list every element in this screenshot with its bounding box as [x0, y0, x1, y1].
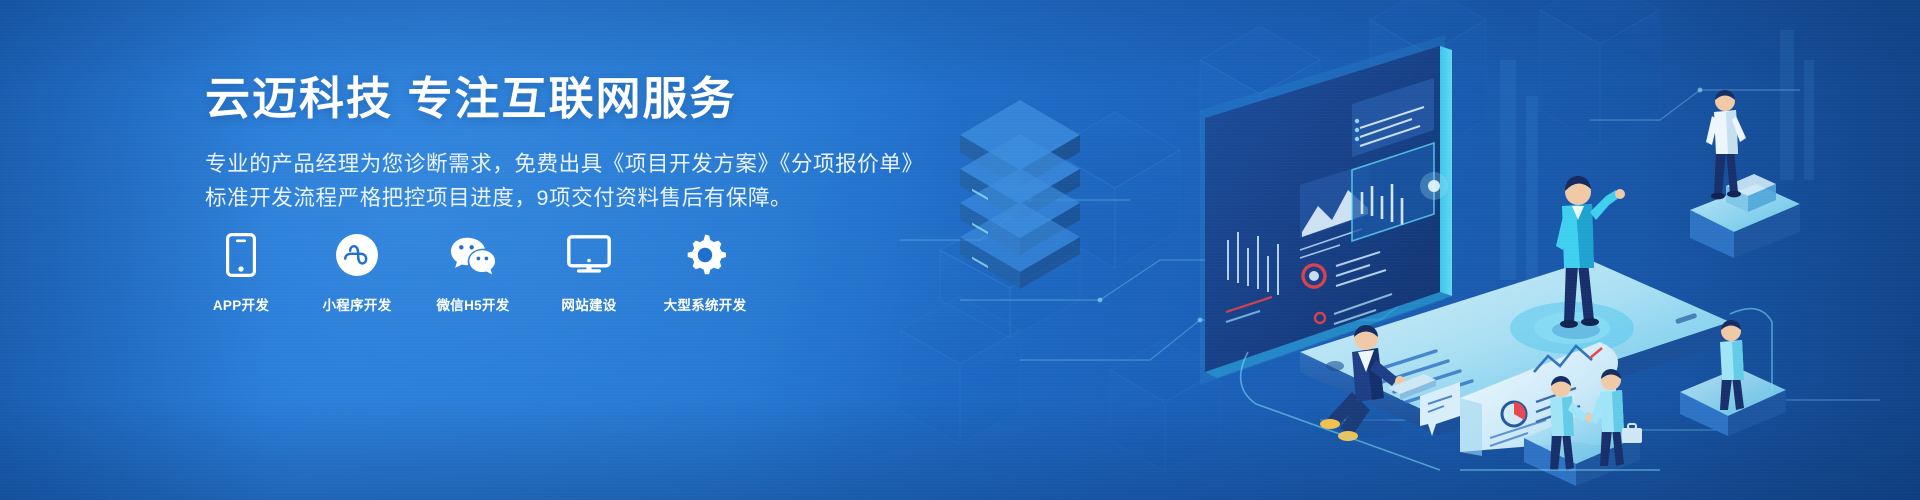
banner-subtitle: 专业的产品经理为您诊断需求，免费出具《项目开发方案》《分项报价单》 标准开发流程… [205, 147, 925, 215]
service-item-wechat-h5[interactable]: 微信H5开发 [437, 232, 509, 314]
service-item-website[interactable]: 网站建设 [553, 232, 625, 314]
mini-program-icon [334, 232, 380, 278]
subtitle-line-2: 标准开发流程严格把控项目进度，9项交付资料售后有保障。 [205, 181, 925, 215]
service-item-app[interactable]: APP开发 [205, 232, 277, 314]
service-label-mini-program: 小程序开发 [323, 294, 392, 314]
wechat-icon [450, 232, 496, 278]
service-item-mini-program[interactable]: 小程序开发 [321, 232, 393, 314]
service-label-website: 网站建设 [561, 294, 616, 314]
promo-banner: 云迈科技 专注互联网服务 专业的产品经理为您诊断需求，免费出具《项目开发方案》《… [0, 0, 1920, 500]
monitor-icon [566, 232, 612, 278]
service-label-app: APP开发 [213, 294, 269, 314]
server-stack [960, 100, 1080, 289]
mobile-phone-icon [218, 232, 264, 278]
subtitle-line-1: 专业的产品经理为您诊断需求，免费出具《项目开发方案》《分项报价单》 [205, 147, 925, 181]
isometric-data-dashboard-illustration [900, 0, 1920, 500]
page-title: 云迈科技 专注互联网服务 [205, 72, 925, 125]
service-item-large-system[interactable]: 大型系统开发 [669, 232, 741, 314]
service-label-large-system: 大型系统开发 [664, 294, 747, 314]
gear-icon [682, 232, 728, 278]
service-label-wechat-h5: 微信H5开发 [436, 294, 509, 314]
service-list: APP开发 小程序开发 微信 [205, 232, 741, 314]
banner-copy: 云迈科技 专注互联网服务 专业的产品经理为您诊断需求，免费出具《项目开发方案》《… [205, 72, 925, 215]
